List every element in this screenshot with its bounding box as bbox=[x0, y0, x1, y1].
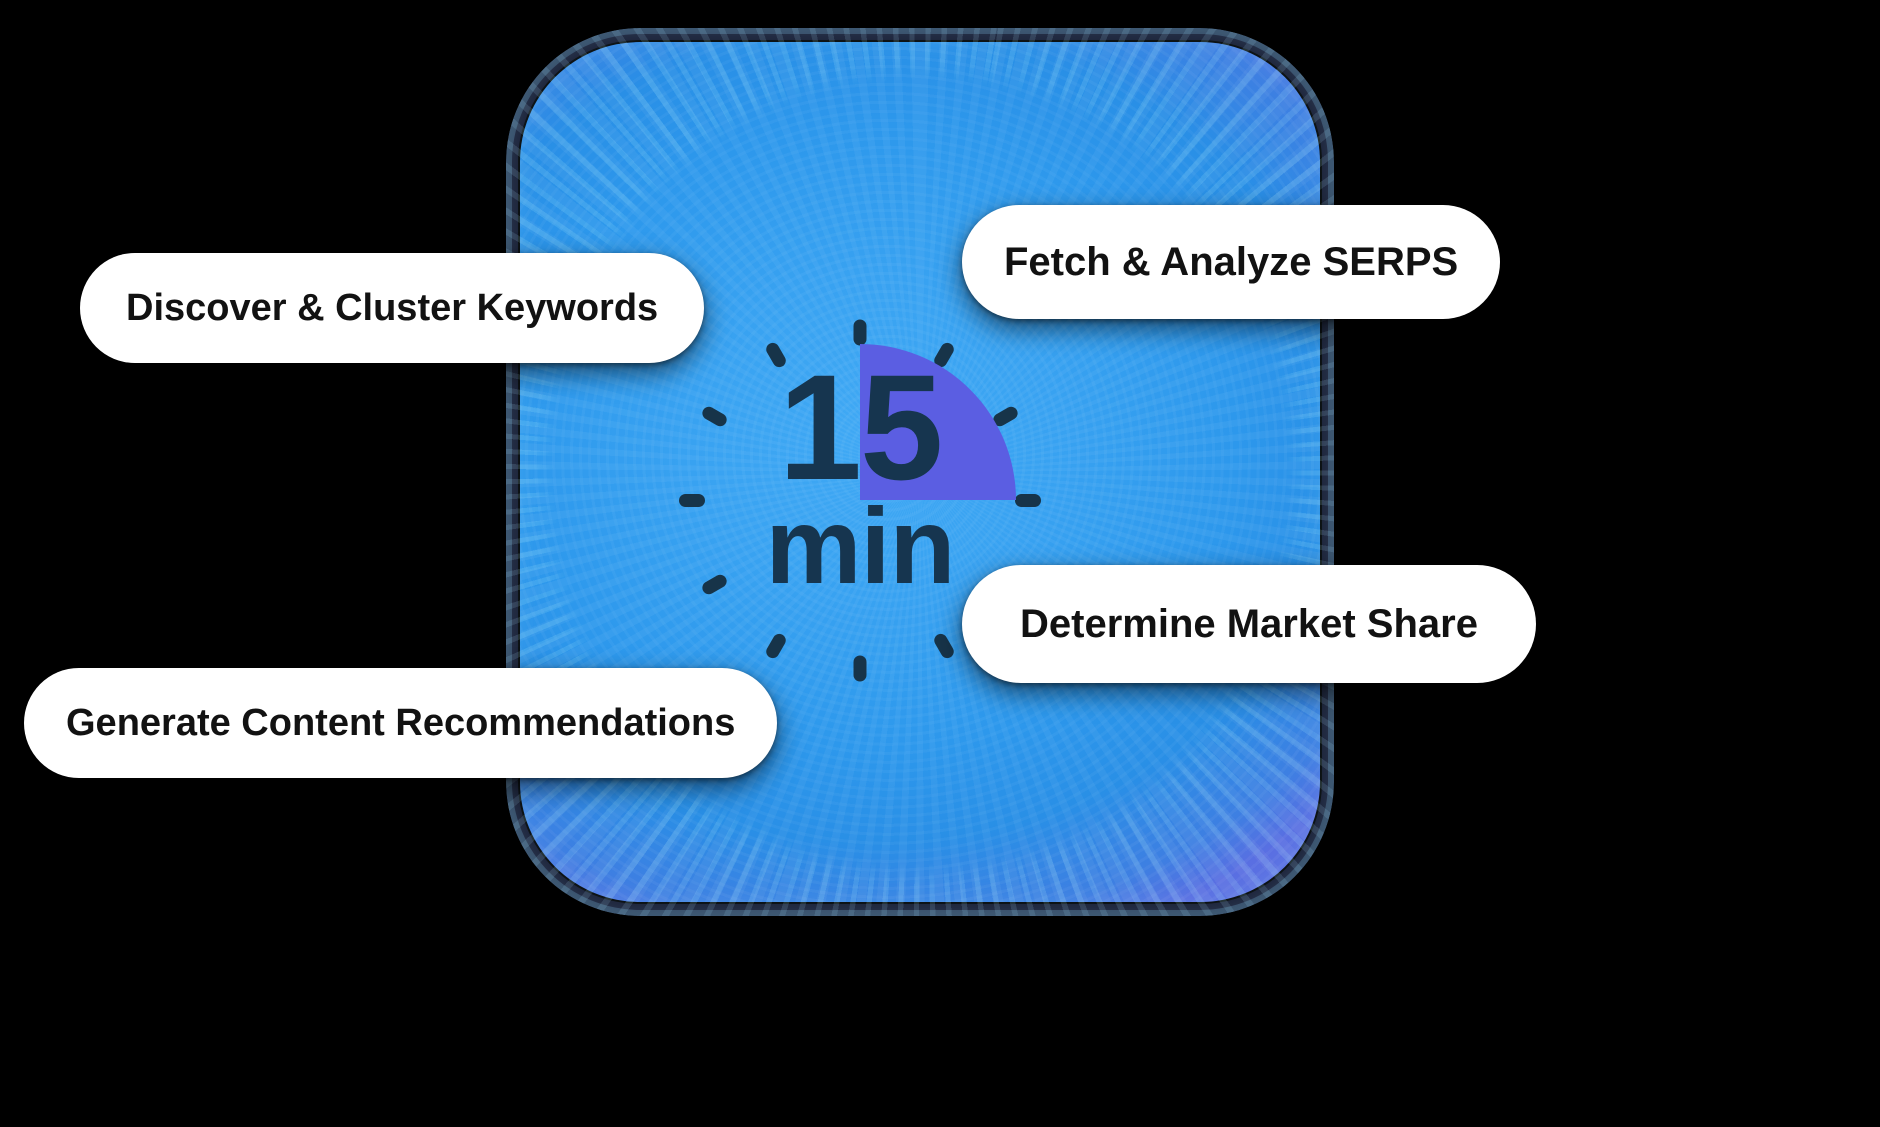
clock-tick bbox=[854, 655, 867, 681]
pill-label: Discover & Cluster Keywords bbox=[126, 287, 658, 330]
pill-discover-cluster-keywords[interactable]: Discover & Cluster Keywords bbox=[80, 253, 704, 363]
clock-tick bbox=[854, 319, 867, 345]
clock-tick bbox=[764, 631, 788, 660]
graphic-canvas: 15 min Discover & Cluster Keywords Fetch… bbox=[0, 0, 1880, 1127]
pill-label: Fetch & Analyze SERPS bbox=[1004, 240, 1458, 285]
pill-label: Determine Market Share bbox=[1020, 602, 1478, 647]
clock-duration-value: 15 bbox=[660, 358, 1060, 496]
pill-generate-content-recommendations[interactable]: Generate Content Recommendations bbox=[24, 668, 777, 778]
pill-determine-market-share[interactable]: Determine Market Share bbox=[962, 565, 1536, 683]
pill-fetch-analyze-serps[interactable]: Fetch & Analyze SERPS bbox=[962, 205, 1500, 319]
pill-label: Generate Content Recommendations bbox=[66, 702, 735, 745]
clock-tick bbox=[932, 631, 956, 660]
